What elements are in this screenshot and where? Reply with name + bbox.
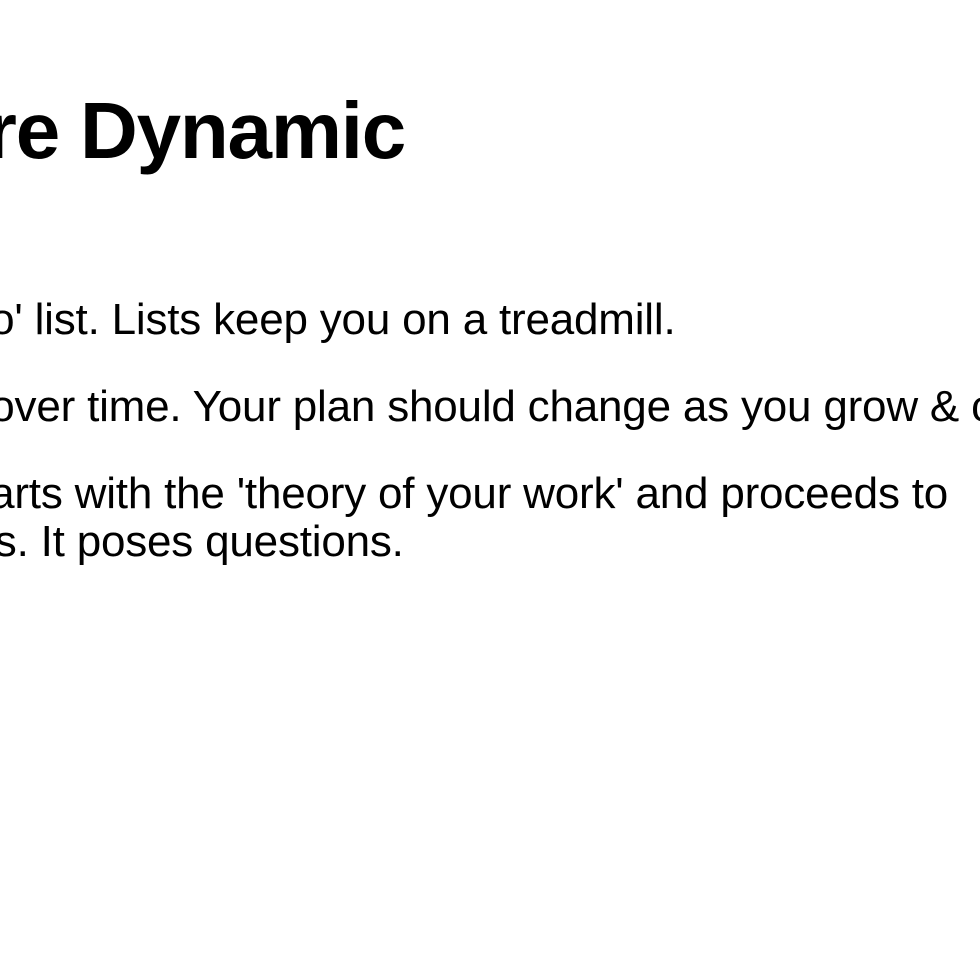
slide-bullet-3: A good plan starts with the 'theory of y…: [0, 470, 980, 566]
slide-body-text: Avoid the 'to-do' list. Lists keep you o…: [0, 296, 980, 566]
slide-bullet-1: Avoid the 'to-do' list. Lists keep you o…: [0, 296, 980, 344]
slide-title: Plans are Dynamic: [0, 83, 980, 179]
slide-bullet-2: Plans change over time. Your plan should…: [0, 383, 980, 431]
slide-canvas: Plans are Dynamic Avoid the 'to-do' list…: [0, 0, 980, 980]
slide-viewport[interactable]: Plans are Dynamic Avoid the 'to-do' list…: [0, 0, 980, 980]
